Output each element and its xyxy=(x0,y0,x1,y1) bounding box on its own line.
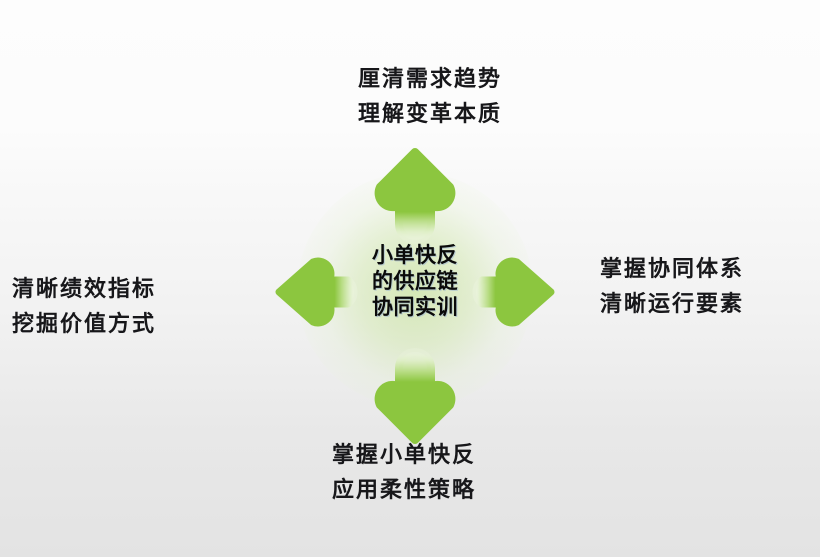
branch-label-up-line-2: 理解变革本质 xyxy=(358,97,502,132)
diagram-canvas: 小单快反 的供应链 协同实训 厘清需求趋势 理解变革本质 掌握协同体系 清晰运行… xyxy=(0,0,820,557)
branch-label-right-line-2: 清晰运行要素 xyxy=(600,287,744,322)
center-hub-line-2: 的供应链 xyxy=(350,269,480,295)
branch-label-left-line-1: 清晰绩效指标 xyxy=(12,272,156,307)
center-hub-label: 小单快反 的供应链 协同实训 xyxy=(350,243,480,321)
branch-label-down-line-1: 掌握小单快反 xyxy=(332,438,476,473)
arrow-up-icon[interactable] xyxy=(374,150,456,240)
center-hub-line-3: 协同实训 xyxy=(350,295,480,321)
branch-label-right: 掌握协同体系 清晰运行要素 xyxy=(600,252,744,322)
branch-label-up-line-1: 厘清需求趋势 xyxy=(358,62,502,97)
branch-label-down: 掌握小单快反 应用柔性策略 xyxy=(332,438,476,508)
branch-label-left: 清晰绩效指标 挖掘价值方式 xyxy=(12,272,156,342)
branch-label-right-line-1: 掌握协同体系 xyxy=(600,252,744,287)
arrow-down-icon[interactable] xyxy=(374,352,456,442)
branch-label-up: 厘清需求趋势 理解变革本质 xyxy=(358,62,502,132)
branch-label-left-line-2: 挖掘价值方式 xyxy=(12,307,156,342)
branch-label-down-line-2: 应用柔性策略 xyxy=(332,473,476,508)
center-hub-line-1: 小单快反 xyxy=(350,243,480,269)
